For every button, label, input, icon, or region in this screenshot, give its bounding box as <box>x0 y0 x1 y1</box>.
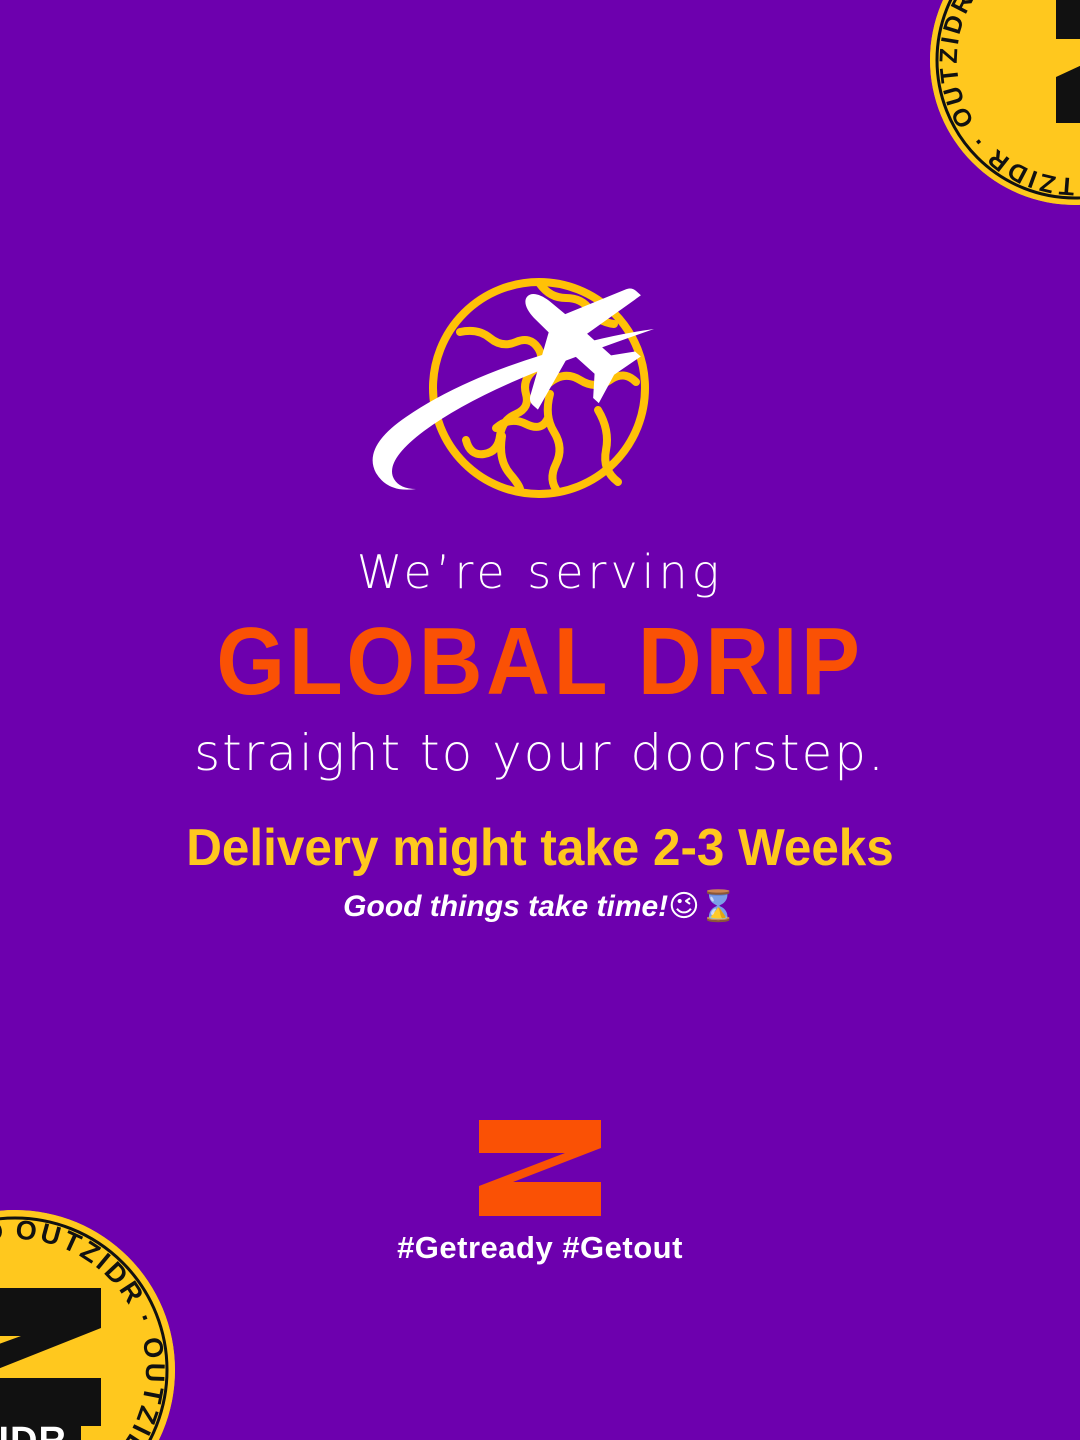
hourglass-emoji: ⌛ <box>699 889 736 924</box>
wink-face-emoji: 😉 <box>668 889 699 924</box>
hero-globe-airplane-icon <box>352 268 728 520</box>
delivery-notice-text: Delivery might take 2-3 Weeks <box>27 820 1053 877</box>
eyebrow-text: We’re serving <box>0 548 1080 596</box>
delivery-notice-block: Delivery might take 2-3 Weeks Good thing… <box>0 820 1080 925</box>
subhead-text: straight to your doorstep. <box>0 726 1080 781</box>
headline-text: GLOBAL DRIP <box>43 608 1037 716</box>
hashtags-text: #Getready #Getout <box>0 1230 1080 1266</box>
delivery-note-text: Good things take time! <box>343 890 668 923</box>
outzidr-z-logomark <box>479 1120 601 1216</box>
headline-block: We’re serving GLOBAL DRIP straight to yo… <box>0 548 1080 781</box>
badge-top-right: OUTZIDR · OUTZIDR · OUTZIDR · OUTZIDR · … <box>930 0 1080 205</box>
footer-block: #Getready #Getout <box>0 1120 1080 1266</box>
poster-canvas: OUTZIDR · OUTZIDR · OUTZIDR · OUTZIDR · … <box>0 0 1080 1440</box>
delivery-note-line: Good things take time!😉⌛ <box>0 889 1080 925</box>
badge-wordmark-text: OUTZIDR <box>0 1420 67 1440</box>
